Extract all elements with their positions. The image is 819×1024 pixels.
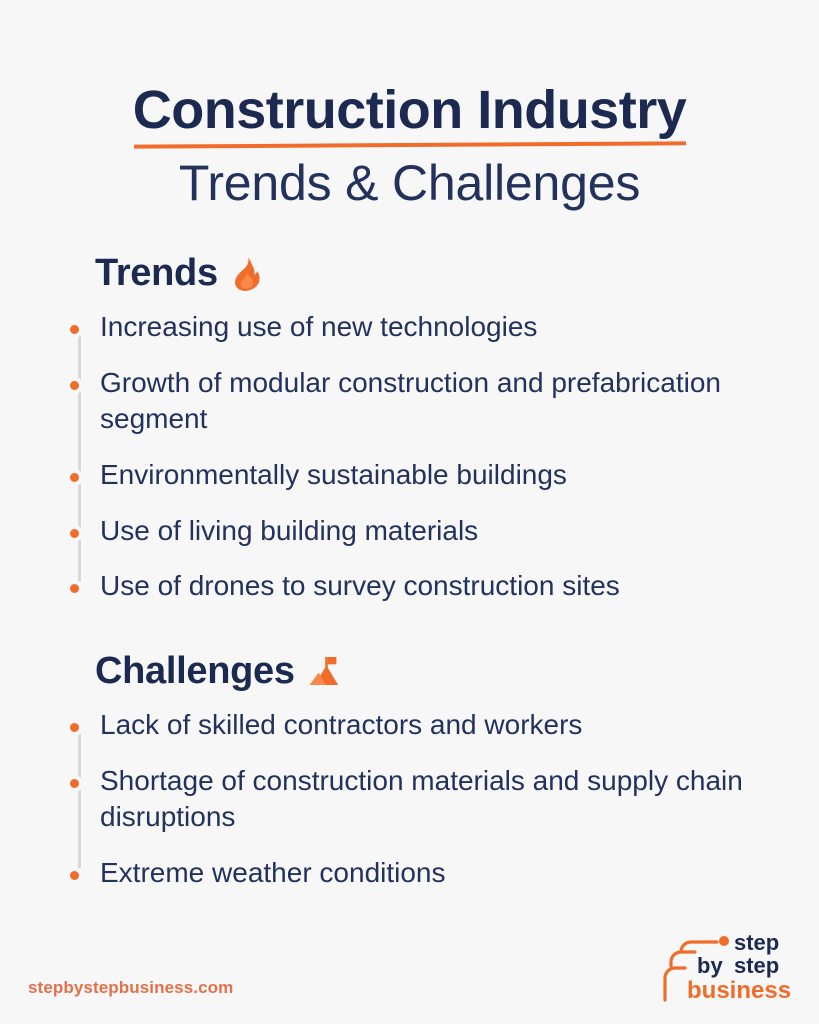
- fire-icon: [230, 255, 264, 293]
- title-underline-accent: [134, 141, 686, 148]
- bullet-dot-icon: [70, 779, 79, 788]
- bullet-dot-icon: [70, 529, 79, 538]
- bullet-dot-icon: [70, 871, 79, 880]
- list-item: Environmentally sustainable buildings: [0, 457, 819, 493]
- trends-list: Increasing use of new technologies Growt…: [0, 309, 819, 604]
- bullet-dot-icon: [70, 473, 79, 482]
- section-trends: Trends Increasing use of new technologie…: [0, 252, 819, 604]
- logo-line1: step: [734, 930, 779, 955]
- title-main-wrap: Construction Industry: [133, 82, 687, 139]
- logo-line3: business: [687, 977, 791, 1004]
- section-heading-label: Challenges: [95, 650, 295, 693]
- section-heading-challenges: Challenges: [0, 650, 819, 693]
- footer: stepbystepbusiness.com step by step busi…: [0, 914, 819, 1024]
- list-item-label: Use of living building materials: [100, 513, 478, 549]
- list-item: Use of drones to survey construction sit…: [0, 568, 819, 604]
- section-heading-label: Trends: [95, 252, 218, 295]
- footer-website-url[interactable]: stepbystepbusiness.com: [28, 978, 233, 998]
- list-item: Increasing use of new technologies: [0, 309, 819, 345]
- list-item: Extreme weather conditions: [0, 855, 819, 891]
- list-item-label: Increasing use of new technologies: [100, 309, 537, 345]
- mountain-flag-icon: [307, 653, 341, 691]
- page-title: Construction Industry: [133, 82, 687, 139]
- list-item-label: Use of drones to survey construction sit…: [100, 568, 620, 604]
- infographic-canvas: Construction Industry Trends & Challenge…: [0, 0, 819, 1024]
- bullet-dot-icon: [70, 325, 79, 334]
- list-item-label: Environmentally sustainable buildings: [100, 457, 567, 493]
- list-item: Lack of skilled contractors and workers: [0, 707, 819, 743]
- title-block: Construction Industry Trends & Challenge…: [0, 0, 819, 212]
- list-item: Shortage of construction materials and s…: [0, 763, 819, 835]
- list-item-label: Growth of modular construction and prefa…: [100, 365, 800, 437]
- list-item: Use of living building materials: [0, 513, 819, 549]
- bullet-dot-icon: [70, 584, 79, 593]
- brand-logo[interactable]: step by step business: [661, 928, 801, 1006]
- bullet-dot-icon: [70, 723, 79, 732]
- list-item-label: Shortage of construction materials and s…: [100, 763, 800, 835]
- bullet-dot-icon: [70, 381, 79, 390]
- challenges-list: Lack of skilled contractors and workers …: [0, 707, 819, 890]
- section-challenges: Challenges Lack of skilled contractors a…: [0, 650, 819, 890]
- page-subtitle: Trends & Challenges: [0, 155, 819, 213]
- logo-line2b: step: [734, 953, 779, 978]
- section-heading-trends: Trends: [0, 252, 819, 295]
- logo-line2a: by: [697, 953, 723, 978]
- list-item-label: Lack of skilled contractors and workers: [100, 707, 582, 743]
- list-item: Growth of modular construction and prefa…: [0, 365, 819, 437]
- list-item-label: Extreme weather conditions: [100, 855, 446, 891]
